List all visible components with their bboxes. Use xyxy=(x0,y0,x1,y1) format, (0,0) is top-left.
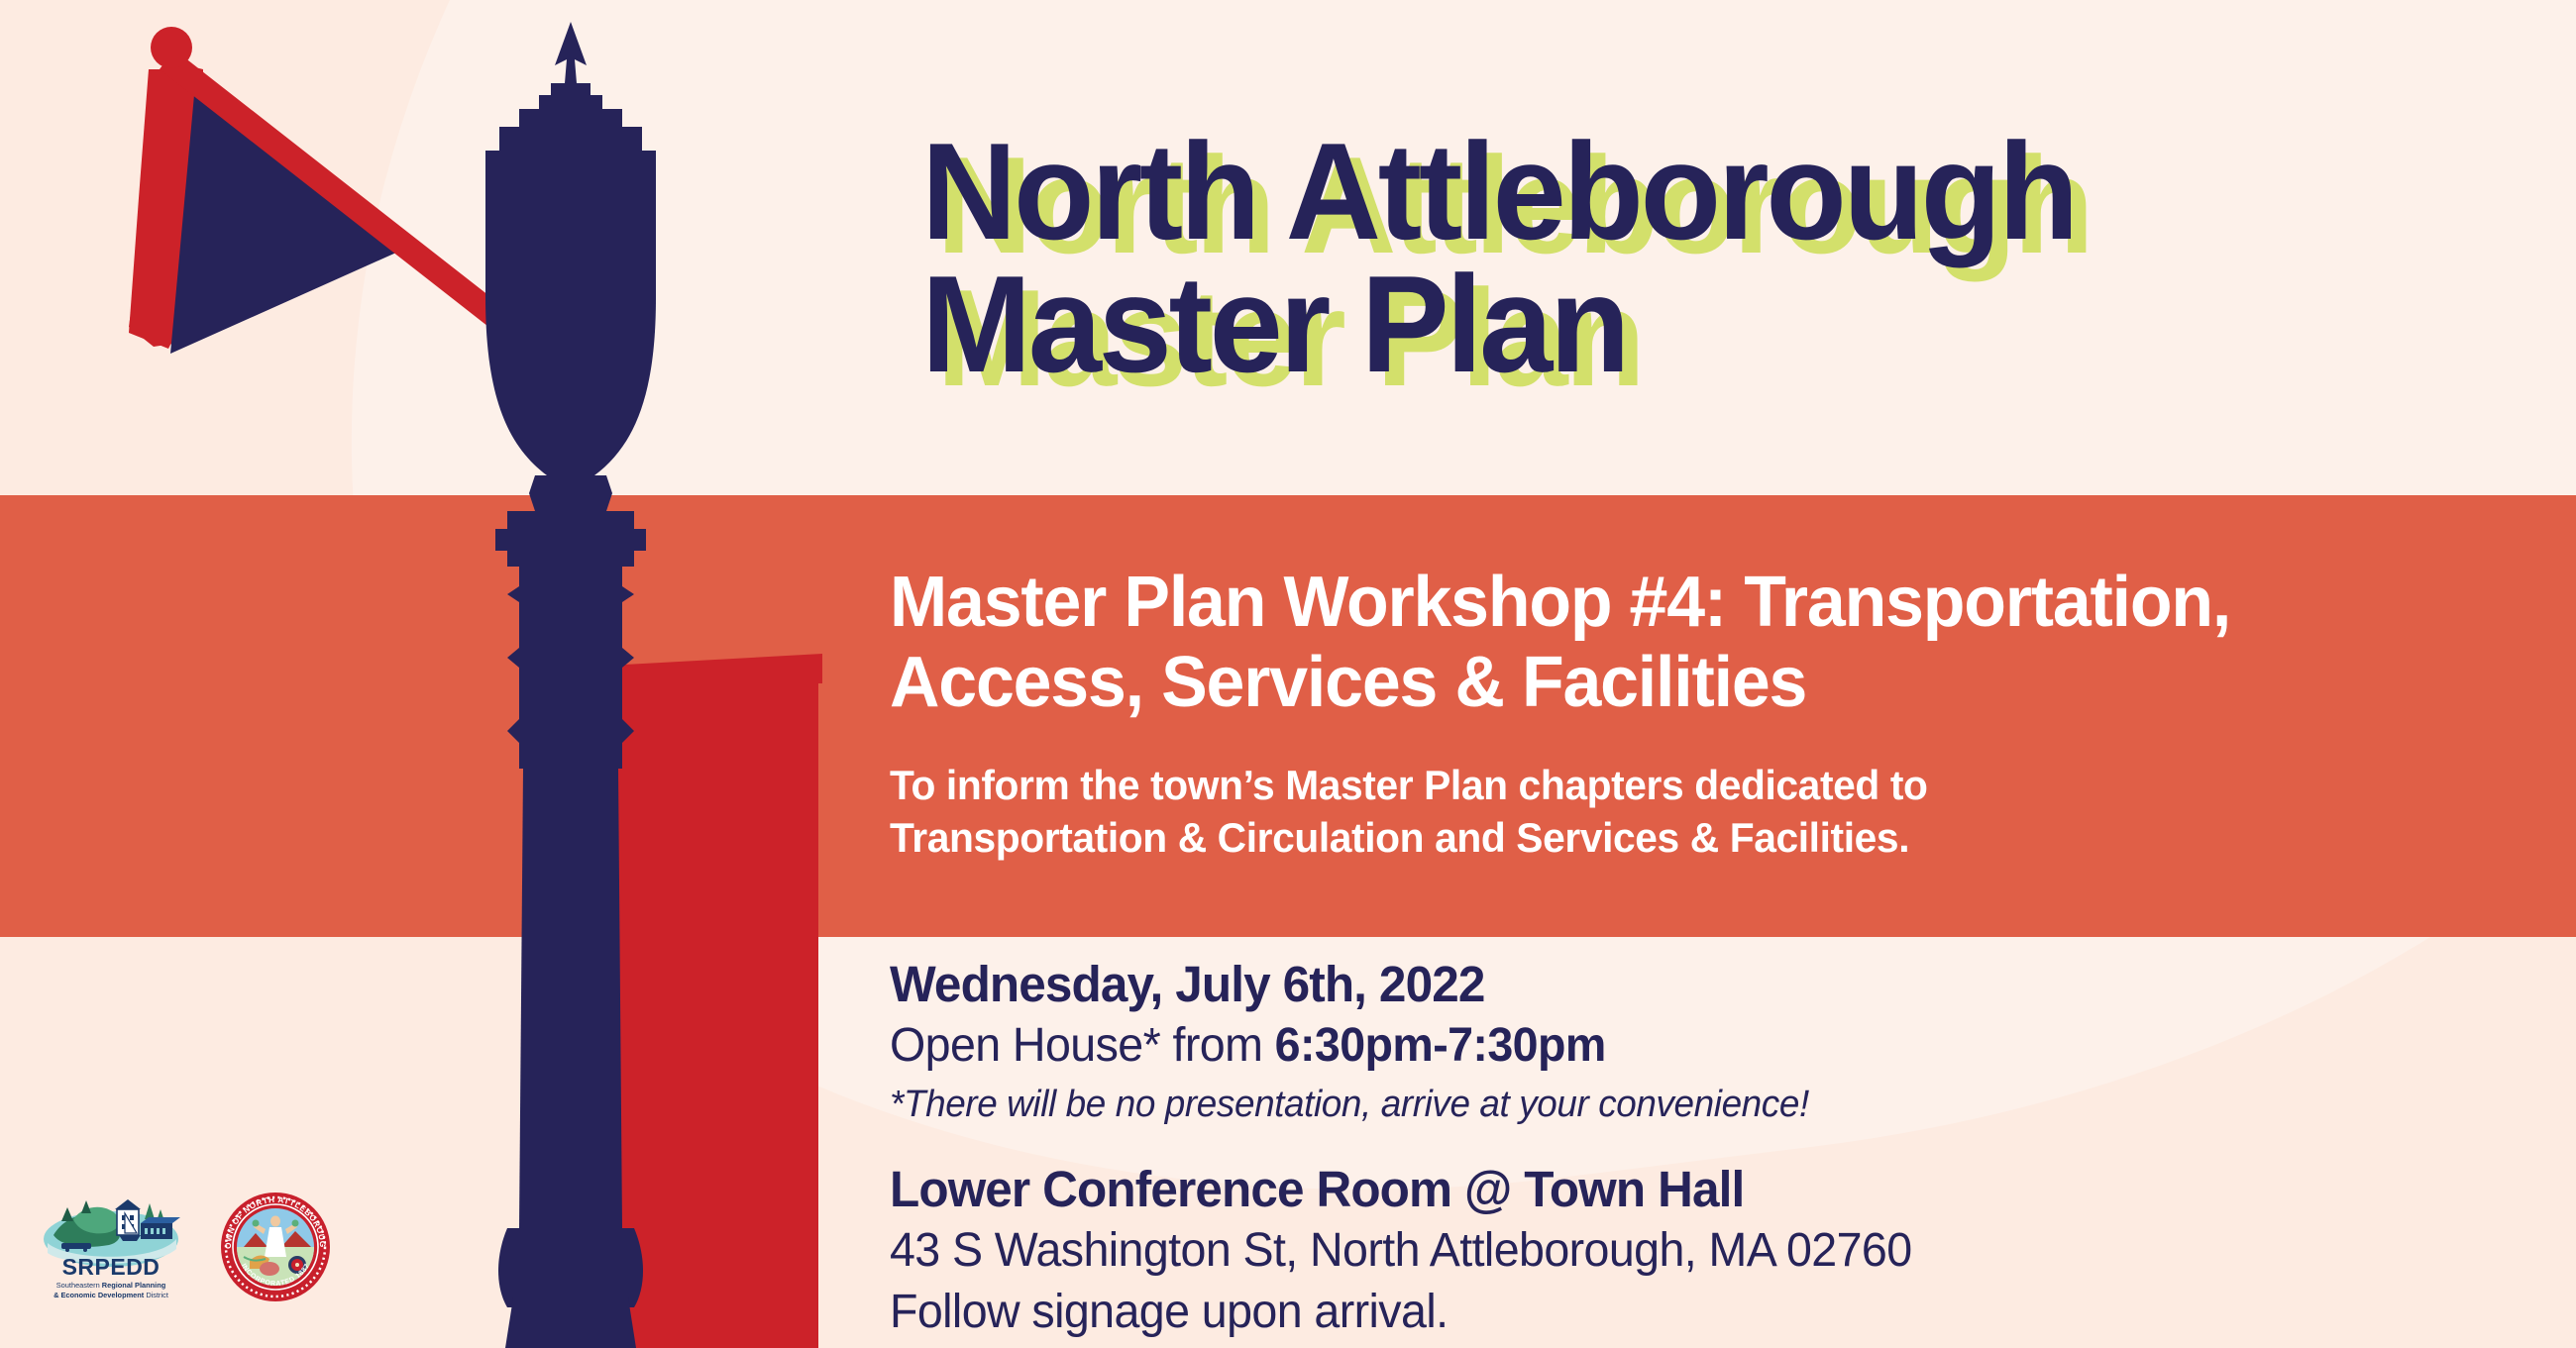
event-footnote: *There will be no presentation, arrive a… xyxy=(890,1083,2331,1128)
workshop-heading: Master Plan Workshop #4: Transportation,… xyxy=(890,563,2466,722)
venue-instruction: Follow signage upon arrival. xyxy=(890,1284,2331,1341)
venue-address: 43 S Washington St, North Attleborough, … xyxy=(890,1222,2331,1280)
page-title: North Attleborough Master Plan xyxy=(921,129,2546,388)
workshop-subtext-line-1: To inform the town’s Master Plan chapter… xyxy=(890,762,1928,808)
workshop-heading-line-2: Access, Services & Facilities xyxy=(890,643,1806,722)
logo-row: SRPEDD Southeastern Regional Planning & … xyxy=(38,1192,331,1306)
workshop-subtext: To inform the town’s Master Plan chapter… xyxy=(890,760,2466,865)
svg-text:& Economic Development Distric: & Economic Development District xyxy=(54,1291,168,1299)
event-details: Wednesday, July 6th, 2022 Open House* fr… xyxy=(890,956,2331,1341)
flag-on-pole xyxy=(129,27,507,354)
event-date: Wednesday, July 6th, 2022 xyxy=(890,956,2331,1013)
srpedd-logo: SRPEDD Southeastern Regional Planning & … xyxy=(38,1192,184,1306)
svg-text:SRPEDD: SRPEDD xyxy=(62,1254,161,1280)
venue-group: Lower Conference Room @ Town Hall 43 S W… xyxy=(890,1161,2331,1340)
title-line-1: North Attleborough xyxy=(921,129,2481,256)
svg-text:Southeastern Regional Planning: Southeastern Regional Planning xyxy=(56,1281,166,1290)
workshop-banner-content: Master Plan Workshop #4: Transportation,… xyxy=(890,563,2515,865)
event-time: Open House* from 6:30pm-7:30pm xyxy=(890,1017,2331,1075)
town-of-north-attleborough-seal-icon: TOWN OF NORTH ATTLEBOROUGH INCORPORATED … xyxy=(220,1192,331,1302)
venue-name: Lower Conference Room @ Town Hall xyxy=(890,1161,2331,1218)
workshop-subtext-line-2: Transportation & Circulation and Service… xyxy=(890,814,1909,861)
illustration-group xyxy=(0,0,892,1348)
event-time-value: 6:30pm-7:30pm xyxy=(1275,1019,1606,1072)
town-seal-logo: TOWN OF NORTH ATTLEBOROUGH INCORPORATED … xyxy=(220,1192,331,1302)
workshop-heading-line-1: Master Plan Workshop #4: Transportation, xyxy=(890,563,2230,642)
title-line-2: Master Plan xyxy=(921,261,2481,388)
event-time-prefix: Open House* from xyxy=(890,1019,1275,1072)
srpedd-landscape-icon: SRPEDD Southeastern Regional Planning & … xyxy=(38,1192,184,1306)
poster-canvas: North Attleborough Master Plan Master Pl… xyxy=(0,0,2576,1348)
